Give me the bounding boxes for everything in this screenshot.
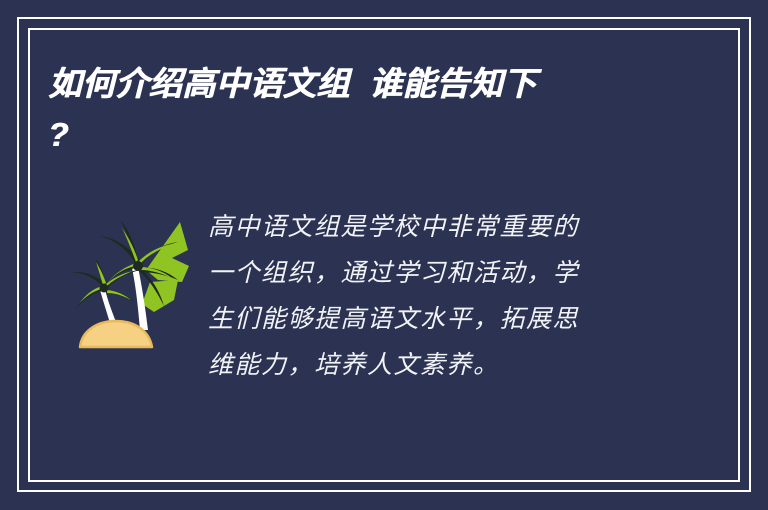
- page-title: 如何介绍高中语文组 谁能告知下 ?: [48, 58, 708, 160]
- body-line: 生们能够提高语文水平，拓展思: [208, 296, 638, 342]
- body-line: 一个组织，通过学习和活动，学: [208, 250, 638, 296]
- body-line: 高中语文组是学校中非常重要的: [208, 204, 638, 250]
- body-line: 维能力，培养人文素养。: [208, 342, 638, 388]
- palm-trees-island-icon: [62, 208, 194, 354]
- illustration-container: [48, 190, 208, 354]
- body-text: 高中语文组是学校中非常重要的 一个组织，通过学习和活动，学 生们能够提高语文水平…: [208, 190, 638, 388]
- poster-canvas: 如何介绍高中语文组 谁能告知下 ?: [0, 0, 768, 510]
- content-row: 高中语文组是学校中非常重要的 一个组织，通过学习和活动，学 生们能够提高语文水平…: [48, 190, 720, 388]
